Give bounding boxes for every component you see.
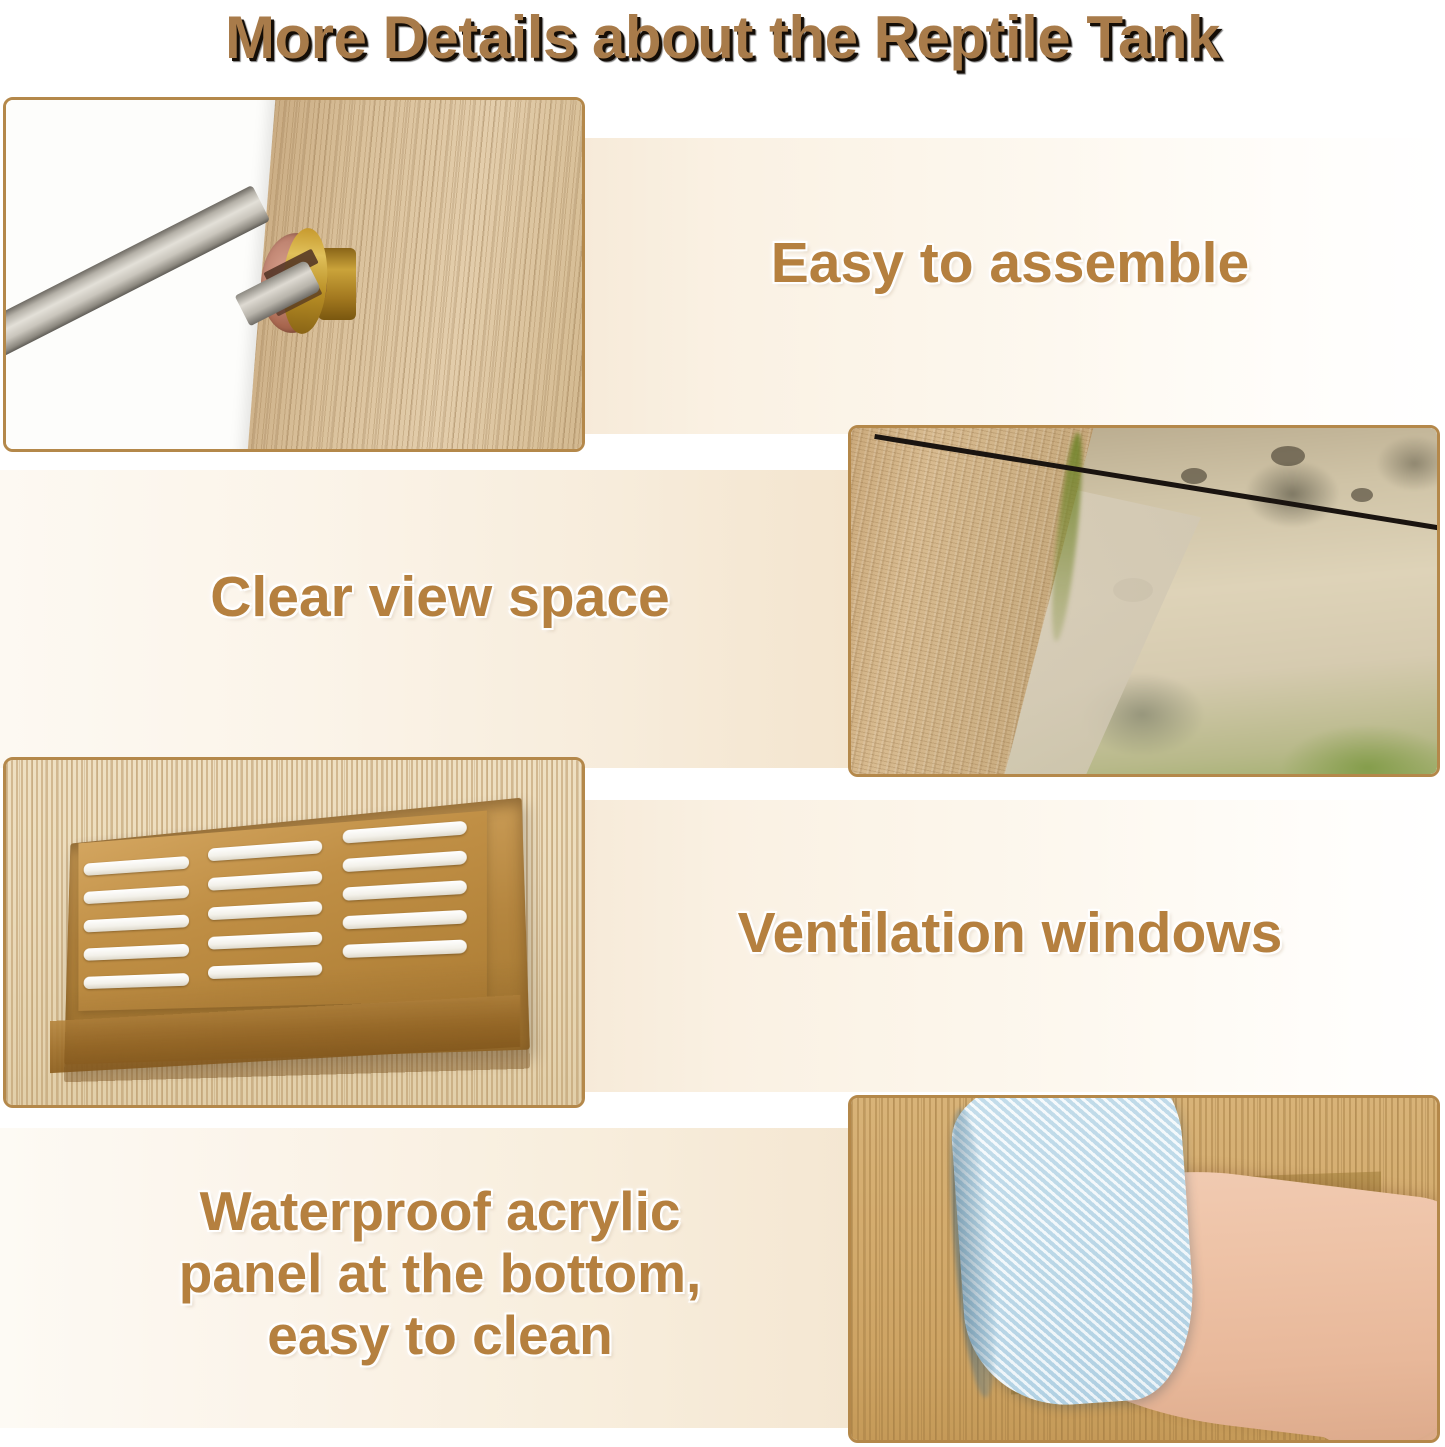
vent-slot [84, 856, 189, 876]
page-title: More Details about the Reptile Tank [0, 2, 1445, 74]
photo-waterproof-acrylic-panel [848, 1095, 1440, 1443]
vent-slot [208, 840, 322, 861]
feature-label-line-1: Waterproof acrylic [20, 1180, 860, 1242]
photo-4-content [851, 1098, 1437, 1440]
vent-slot [208, 932, 322, 950]
vent-slot [208, 962, 322, 979]
photo-clear-view-space [848, 425, 1440, 777]
vent-slot-group [343, 829, 474, 992]
vent-slot [84, 944, 189, 961]
vent-slot [343, 939, 467, 958]
feature-label-easy-to-assemble: Easy to assemble [600, 228, 1420, 298]
rock-speck-shape [1181, 468, 1207, 484]
rock-speck-shape [1271, 446, 1305, 466]
feature-label-line-2: panel at the bottom, [20, 1242, 860, 1304]
vent-slot [343, 821, 467, 844]
vent-slot [208, 871, 322, 891]
feature-label-clear-view-space: Clear view space [40, 562, 840, 632]
infographic-page: More Details about the Reptile Tank Easy… [0, 0, 1445, 1447]
vent-slot [343, 880, 467, 901]
photo-3-content [6, 760, 582, 1105]
feature-label-ventilation-windows: Ventilation windows [600, 898, 1420, 968]
vent-slot [84, 914, 189, 932]
vent-slot [84, 973, 189, 989]
photo-1-content [6, 100, 582, 449]
vent-slot-group [84, 850, 195, 1000]
rock-speck-shape [1351, 488, 1373, 502]
vent-slot [343, 910, 467, 930]
photo-2-content [851, 428, 1437, 774]
photo-easy-to-assemble [3, 97, 585, 452]
vent-grille-plate [78, 811, 486, 1011]
vent-slot [84, 885, 189, 904]
vent-slot [343, 850, 467, 872]
vent-slot [208, 901, 322, 920]
photo-ventilation-windows [3, 757, 585, 1108]
feature-label-waterproof-acrylic-panel: Waterproof acrylic panel at the bottom, … [20, 1180, 860, 1366]
vent-slot-group [208, 840, 328, 996]
feature-label-line-3: easy to clean [20, 1304, 860, 1366]
